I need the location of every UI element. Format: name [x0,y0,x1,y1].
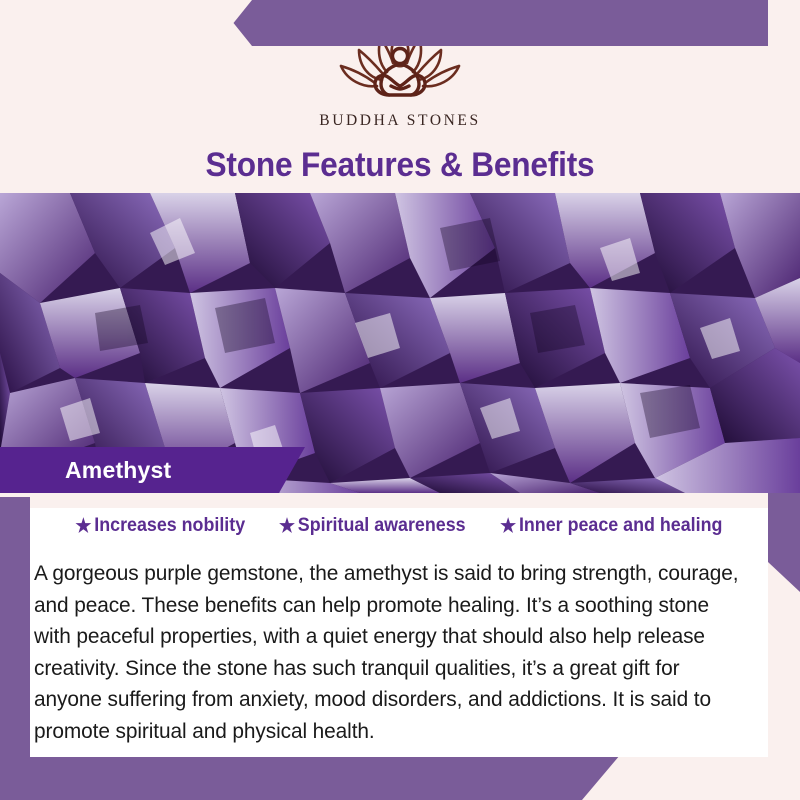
page-title: Stone Features & Benefits [28,146,772,185]
frame-accent-top [215,0,800,46]
benefit-label: Inner peace and healing [519,515,722,537]
stone-label-bar: Amethyst [0,447,305,493]
benefit-label: Increases nobility [94,515,245,537]
infographic-card: Amethyst [0,0,800,800]
brand-name: BUDDHA STONES [319,112,480,130]
benefits-list: ★ Increases nobility ★ Spiritual awarene… [0,515,800,537]
star-icon: ★ [76,517,92,536]
benefit-label: Spiritual awareness [298,515,466,537]
benefit-item: ★ Increases nobility [76,515,246,537]
frame-accent-bottom [0,755,620,800]
frame-accent-left [0,497,30,800]
star-icon: ★ [279,517,295,536]
stone-name: Amethyst [0,457,171,484]
benefit-item: ★ Inner peace and healing [500,515,722,537]
stone-description: A gorgeous purple gemstone, the amethyst… [34,558,748,747]
benefit-item: ★ Spiritual awareness [279,515,466,537]
star-icon: ★ [500,517,516,536]
